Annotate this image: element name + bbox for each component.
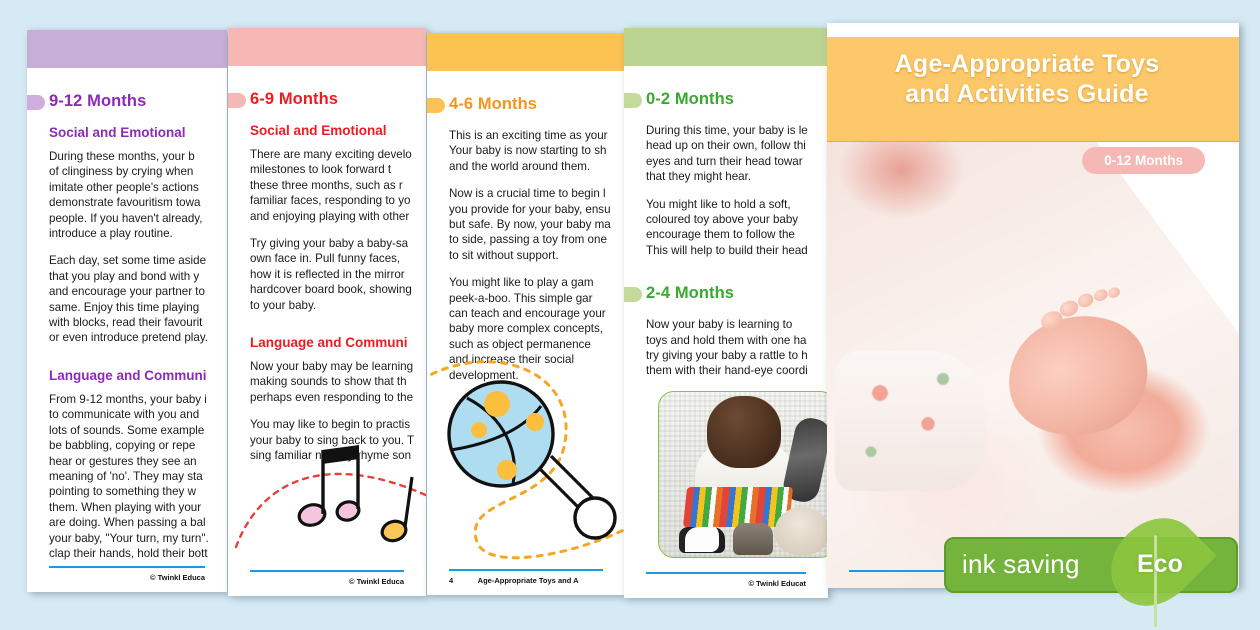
ink-saving-eco-badge: ink saving Eco (944, 533, 1234, 591)
page-footer: © Twinkl Educa (49, 566, 205, 582)
paragraph: Now your baby is learning to toys and ho… (646, 317, 806, 379)
page-header-band-orange (427, 33, 625, 71)
document-page-6-9-months[interactable]: 6-9 Months Social and Emotional There ar… (228, 28, 426, 596)
paragraph: Each day, set some time aside that you p… (49, 253, 205, 345)
photo-toy-cow (679, 527, 725, 553)
page-footer: © Twinkl Educat (646, 572, 806, 588)
photo-baby-head (707, 396, 781, 468)
bullet-pill-icon (27, 95, 45, 110)
section-heading-social-emotional: Social and Emotional (250, 123, 404, 138)
footer-copyright: © Twinkl Educat (749, 579, 806, 588)
page-header-band-purple (27, 30, 227, 68)
footer-divider (49, 566, 205, 568)
document-page-0-2-months[interactable]: 0-2 Months During this time, your baby i… (624, 28, 828, 598)
photo-floral-sleeve (835, 351, 985, 491)
footer-divider (250, 570, 404, 572)
paragraph: This is an exciting time as your Your ba… (449, 128, 603, 174)
age-heading-6-9-months: 6-9 Months (250, 90, 404, 109)
cover-age-badge: 0-12 Months (1082, 147, 1205, 174)
eco-badge-eco-label: Eco (1137, 550, 1183, 579)
baby-playing-with-toys-photo (658, 391, 828, 558)
page-footer: © Twinkl Educa (250, 570, 404, 586)
footer-copyright: © Twinkl Educa (150, 573, 205, 582)
bullet-pill-icon (624, 287, 642, 302)
eco-badge-label: ink saving (962, 549, 1080, 580)
paragraph: From 9-12 months, your baby i to communi… (49, 392, 205, 561)
bullet-pill-icon (624, 93, 642, 108)
document-page-9-12-months[interactable]: 9-12 Months Social and Emotional During … (27, 30, 227, 592)
section-heading-language-communication: Language and Communi (49, 368, 205, 383)
age-heading-9-12-months: 9-12 Months (49, 92, 205, 111)
preview-stage: 9-12 Months Social and Emotional During … (0, 0, 1260, 630)
photo-toy-bear (775, 507, 828, 555)
age-heading-4-6-months: 4-6 Months (449, 95, 603, 114)
paragraph: You might like to hold a soft, coloured … (646, 197, 806, 259)
paragraph: Now your baby may be learning making sou… (250, 359, 404, 405)
paragraph: During these months, your b of clingines… (49, 149, 205, 241)
age-heading-0-2-months: 0-2 Months (646, 90, 806, 109)
page-header-band-green (624, 28, 828, 66)
bullet-pill-icon (427, 98, 445, 113)
document-cover-page[interactable]: Age-Appropriate Toys and Activities Guid… (827, 23, 1239, 588)
section-heading-social-emotional: Social and Emotional (49, 125, 205, 140)
footer-divider (646, 572, 806, 574)
section-heading-language-communication: Language and Communi (250, 335, 404, 350)
cover-title: Age-Appropriate Toys and Activities Guid… (827, 49, 1239, 109)
footer-document-title: Age-Appropriate Toys and A (478, 576, 579, 585)
paragraph: Try giving your baby a baby-sa own face … (250, 236, 404, 313)
document-page-4-6-months[interactable]: 4-6 Months This is an exciting time as y… (427, 33, 625, 595)
footer-divider (449, 569, 603, 571)
music-notes-icon (234, 419, 426, 554)
photo-toy-elephant (733, 523, 773, 555)
bullet-pill-icon (228, 93, 246, 108)
paragraph: There are many exciting develo milestone… (250, 147, 404, 224)
footer-copyright: © Twinkl Educa (349, 577, 404, 586)
page-footer: 4 Age-Appropriate Toys and A (449, 569, 603, 585)
baby-rattle-icon (427, 346, 625, 561)
leaf-stem-icon (1154, 535, 1157, 627)
page-header-band-pink (228, 28, 426, 66)
paragraph: During this time, your baby is le head u… (646, 123, 806, 185)
footer-page-number: 4 (449, 576, 453, 585)
paragraph: Now is a crucial time to begin l you pro… (449, 186, 603, 263)
age-heading-2-4-months: 2-4 Months (646, 284, 806, 303)
